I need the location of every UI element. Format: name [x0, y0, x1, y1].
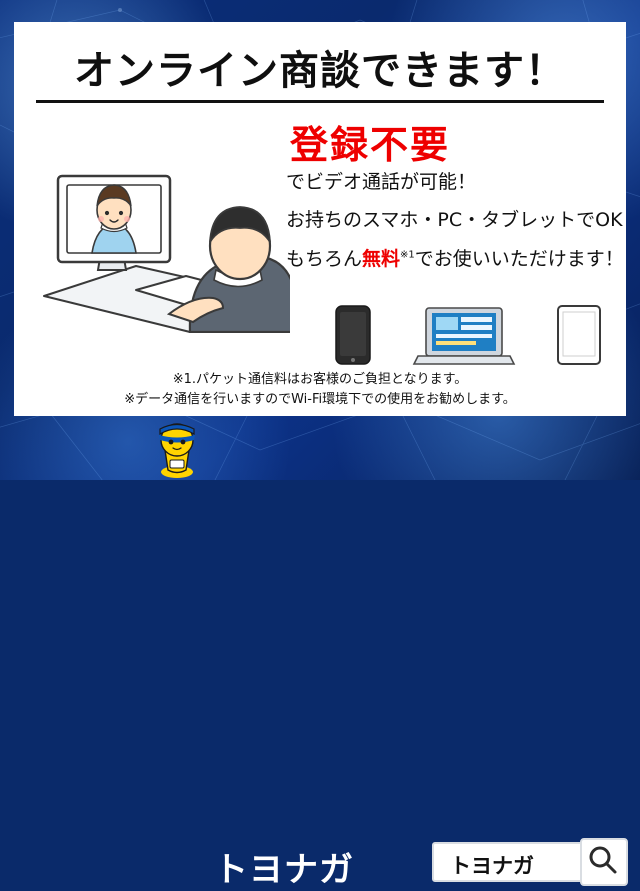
promo-text-block: 登録不要 でビデオ通話が可能！ お持ちのスマホ・PC・タブレットでOK もちろん… — [286, 126, 616, 283]
search-button[interactable] — [580, 838, 628, 886]
device-icons-row — [314, 304, 614, 366]
smartphone-icon — [336, 306, 370, 364]
promo-banner: オンライン商談できます！ — [0, 0, 640, 480]
content-card: オンライン商談できます！ — [14, 22, 626, 416]
promo-line-3-suffix: でお使いいただけます！ — [415, 248, 624, 270]
promo-line-2: お持ちのスマホ・PC・タブレットでOK — [286, 206, 616, 235]
search-input[interactable]: トヨナガ — [432, 842, 584, 882]
promo-line-1: でビデオ通話が可能！ — [286, 168, 616, 197]
free-label: 無料 — [362, 248, 400, 270]
promo-line-3-prefix: もちろん — [286, 248, 362, 270]
title-divider — [36, 100, 604, 103]
no-registration-headline: 登録不要 — [290, 126, 616, 166]
magnifier-icon — [582, 840, 622, 880]
laptop-pc-icon — [414, 308, 514, 364]
toyonaga-mascot-icon — [146, 420, 208, 480]
footnotes: ※1.パケット通信料はお客様のご負担となります。 ※データ通信を行いますのでWi… — [14, 370, 626, 409]
page-title: オンライン商談できます！ — [14, 38, 626, 96]
brand-logo-text: トヨナガ — [214, 842, 354, 891]
footnote-2: ※データ通信を行いますのでWi-Fi環境下での使用をお勧めします。 — [14, 390, 626, 410]
footnote-1: ※1.パケット通信料はお客様のご負担となります。 — [14, 370, 626, 390]
tablet-icon — [558, 306, 600, 364]
promo-line-3: もちろん無料※1でお使いいただけます！ — [286, 245, 616, 274]
bottom-bar: トヨナガ トヨナガ — [0, 418, 640, 480]
search-input-value: トヨナガ — [450, 850, 534, 880]
online-meeting-illustration — [40, 118, 290, 333]
footnote-marker: ※1 — [400, 249, 415, 260]
man-at-desk — [169, 207, 290, 332]
